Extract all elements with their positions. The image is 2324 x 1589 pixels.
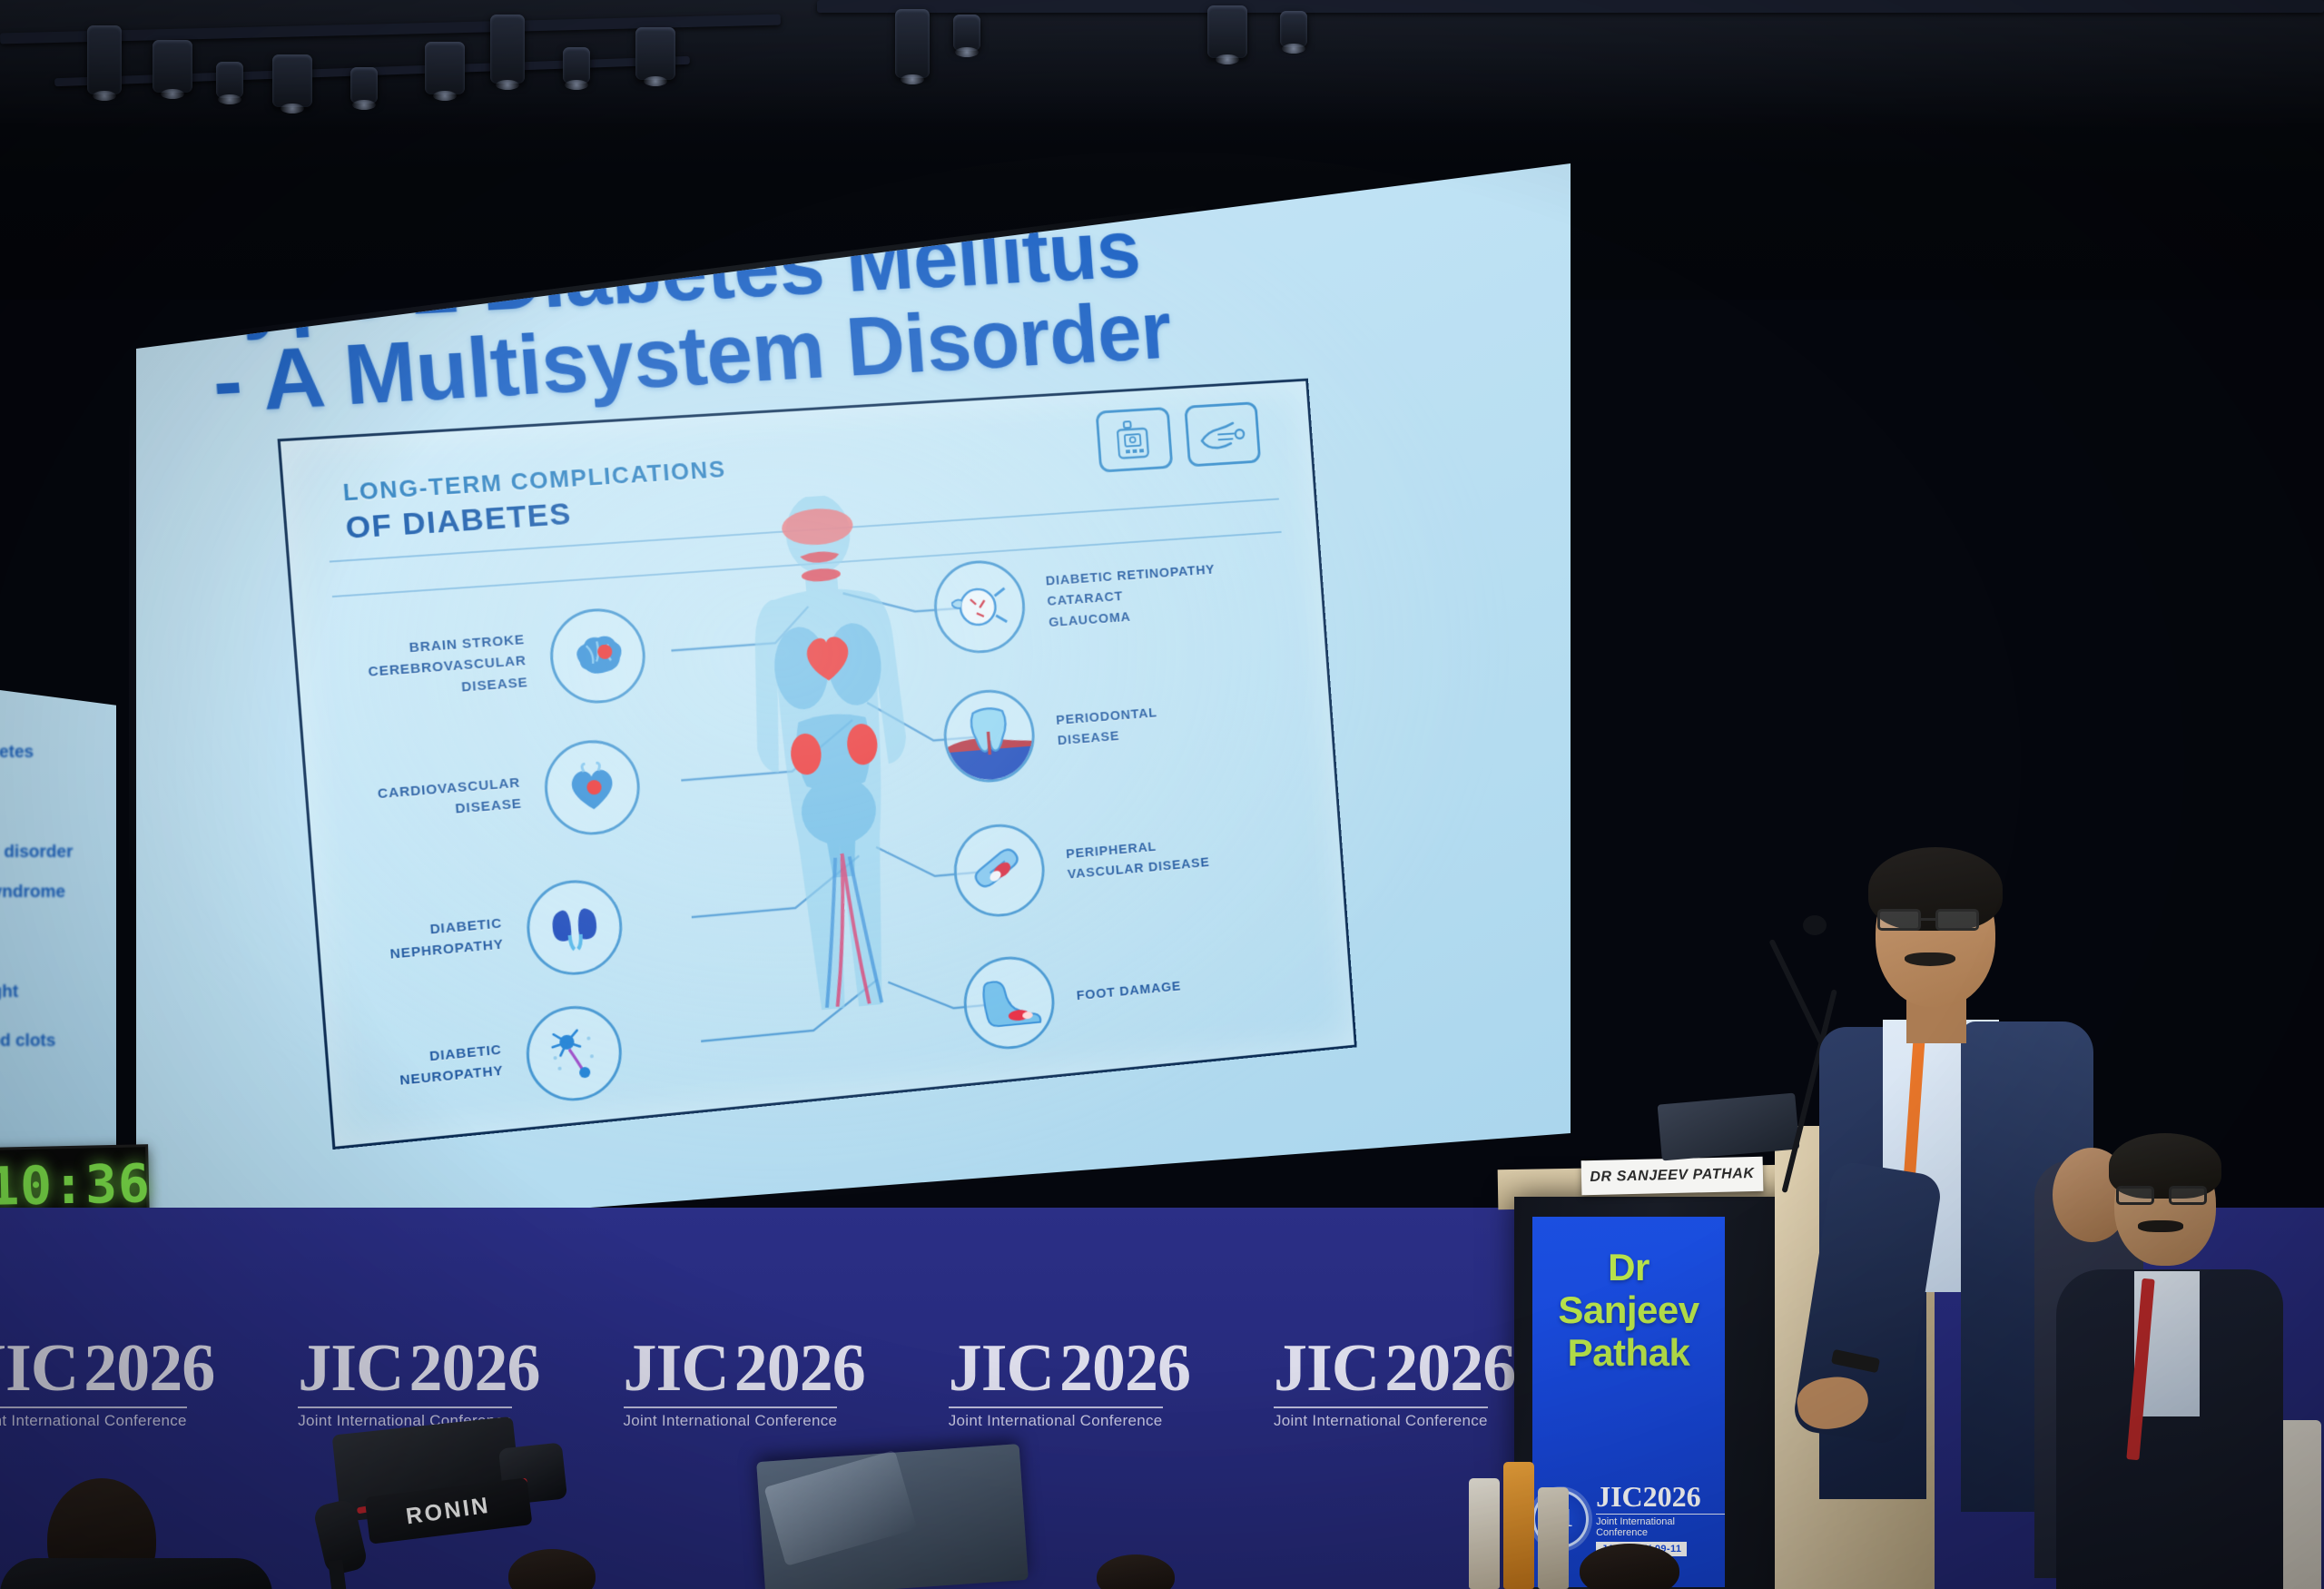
conference-stage-scene: Type 2 Diabetes Mellitus - A Multisystem… (0, 0, 2324, 1589)
stage-light (895, 9, 930, 78)
stage-light (1280, 11, 1307, 47)
bottle (1469, 1478, 1500, 1589)
complication-label: FOOT DAMAGE (1076, 976, 1182, 1006)
nameplate-text: DR SANJEEV PATHAK (1590, 1166, 1755, 1186)
stage-light (563, 47, 590, 84)
backdrop-logo: JIC2026Joint International Conference (1274, 1335, 1515, 1430)
foreground-confidence-monitor (756, 1444, 1029, 1589)
projection-screen: Type 2 Diabetes Mellitus - A Multisystem… (136, 163, 1571, 1253)
finger-prick-test-icon (1184, 401, 1261, 467)
backdrop-logo-title: JIC2026 (298, 1335, 539, 1402)
complication-label: DIABETIC RETINOPATHY CATARACT GLAUCOMA (1045, 559, 1218, 633)
backdrop-logo-subtitle: Joint International Conference (624, 1406, 838, 1430)
backdrop-logo-title: JIC2026 (0, 1335, 214, 1402)
stage-light (153, 40, 192, 93)
complication-label: PERIPHERAL VASCULAR DISEASE (1065, 832, 1210, 885)
podium-brand-subtitle: Joint International Conference (1596, 1514, 1725, 1538)
kidneys-icon (523, 876, 625, 979)
backdrop-logo-subtitle: Joint International Conference (0, 1406, 187, 1430)
stage-light (272, 54, 312, 107)
podium-brand-title: JIC2026 (1596, 1482, 1725, 1511)
backdrop-logo-title: JIC2026 (1274, 1335, 1515, 1402)
backdrop-logo: JIC2026Joint International Conference (624, 1335, 865, 1430)
backdrop-logo-subtitle: Joint International Conference (1274, 1406, 1488, 1430)
complication-node-brain: BRAIN STROKE CEREBROVASCULAR DISEASE (365, 606, 649, 720)
screen-surface: Type 2 Diabetes Mellitus - A Multisystem… (136, 163, 1571, 1253)
backdrop-logo-title: JIC2026 (949, 1335, 1190, 1402)
stage-light (490, 15, 525, 84)
backdrop-logo: JIC2026Joint International Conference (0, 1335, 214, 1430)
backdrop-logo: JIC2026Joint International Conference (949, 1335, 1190, 1430)
glucose-meter-icon (1096, 407, 1174, 473)
complication-node-nerve: DIABETIC NEUROPATHY (395, 1002, 625, 1118)
audience-shoulders (0, 1558, 272, 1589)
eyeglasses-icon (1872, 909, 1995, 933)
human-body-silhouette (681, 488, 990, 1099)
infographic-header-icons (1096, 401, 1262, 472)
screen-glare (763, 1450, 917, 1566)
stage-light (635, 27, 675, 80)
backdrop-logo-title: JIC2026 (624, 1335, 865, 1402)
stage-light (1207, 5, 1247, 58)
brain-icon (547, 606, 648, 706)
stage-light (953, 15, 980, 51)
dignitary-moustache (2138, 1220, 2183, 1232)
gimbal-brand-label: RONIN (405, 1492, 492, 1530)
stage-light (216, 62, 243, 98)
complication-node-foot: FOOT DAMAGE (960, 941, 1185, 1052)
complication-label: BRAIN STROKE CEREBROVASCULAR DISEASE (366, 629, 529, 705)
slide-content: Type 2 Diabetes Mellitus - A Multisystem… (82, 142, 1561, 1321)
stage-light (425, 42, 465, 94)
infographic-heading: LONG-TERM COMPLICATIONS OF DIABETES (342, 455, 730, 547)
complication-label: PERIODONTAL DISEASE (1055, 703, 1159, 752)
stage-light (87, 25, 122, 94)
podium-speaker-name: Dr Sanjeev Pathak (1558, 1246, 1699, 1374)
eyeglasses-icon (2112, 1186, 2220, 1206)
complication-node-tooth: PERIODONTAL DISEASE (940, 677, 1161, 786)
heart-icon (541, 736, 643, 838)
bottle (1538, 1487, 1569, 1589)
infographic-card: LONG-TERM COMPLICATIONS OF DIABETES (278, 379, 1357, 1150)
lighting-truss (0, 0, 2324, 127)
nerve-cell-icon (523, 1002, 625, 1105)
truss-bar (817, 0, 2324, 13)
stage-light (350, 67, 378, 104)
speaker-moustache (1905, 952, 1955, 966)
complication-label: CARDIOVASCULAR DISEASE (377, 772, 523, 825)
complication-node-vascular: PERIPHERAL VASCULAR DISEASE (950, 806, 1212, 920)
podium-nameplate: DR SANJEEV PATHAK (1581, 1157, 1764, 1196)
seated-dignitaries (2047, 1133, 2324, 1589)
complication-label: DIABETIC NEPHROPATHY (388, 913, 505, 965)
side-monitor: diabetes lipid disorder ic syndrome weig… (0, 690, 116, 1199)
laptop (1658, 1092, 1800, 1160)
complication-node-kidneys: DIABETIC NEPHROPATHY (386, 876, 625, 992)
complication-node-eye: DIABETIC RETINOPATHY CATARACT GLAUCOMA (931, 545, 1219, 656)
complication-node-heart: CARDIOVASCULAR DISEASE (375, 736, 644, 852)
backdrop-logo-subtitle: Joint International Conference (949, 1406, 1163, 1430)
backdrop-logo: JIC2026Joint International Conference (298, 1335, 539, 1430)
complication-label: DIABETIC NEUROPATHY (398, 1039, 505, 1091)
bottle (1503, 1462, 1534, 1589)
water-bottles (1469, 1444, 1587, 1589)
